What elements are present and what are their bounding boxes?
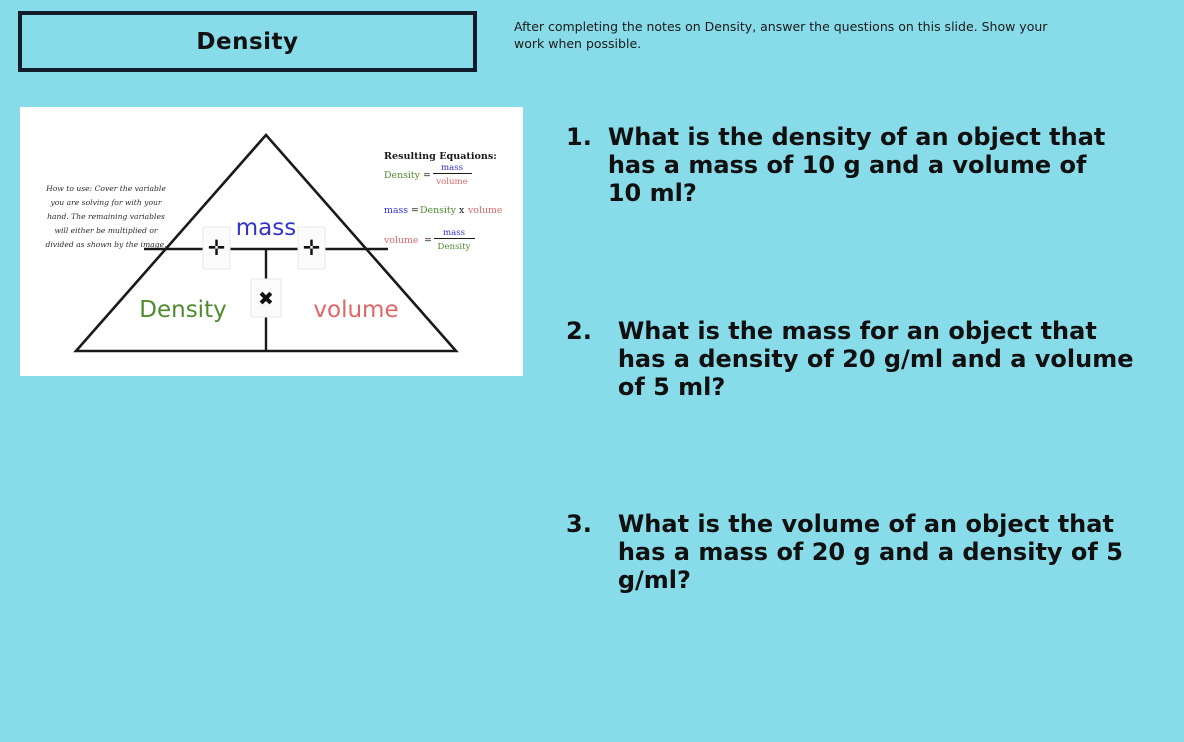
equations-heading: Resulting Equations:: [384, 151, 497, 162]
divide-icon: ✛: [208, 236, 226, 260]
equation-density-numerator: mass: [441, 163, 463, 173]
question-item: 1. What is the density of an object that…: [566, 123, 1126, 207]
equation-mass-factor1: Density: [420, 205, 457, 216]
question-text: What is the volume of an object that has…: [618, 510, 1126, 594]
instructions-text: After completing the notes on Density, a…: [514, 19, 1074, 53]
equation-density: Density = mass volume: [384, 163, 472, 187]
equation-density-denominator: volume: [435, 177, 468, 187]
question-number: 2.: [566, 317, 592, 401]
question-number: 3.: [566, 510, 592, 594]
equation-volume: volume = mass Density: [383, 228, 475, 252]
equation-volume-numerator: mass: [443, 228, 465, 238]
question-line-2: a mass of 10 g and a volume of 10 ml?: [608, 151, 1087, 207]
how-to-use-line-4: will either be multiplied or: [54, 226, 157, 235]
equation-volume-lhs: volume: [383, 235, 419, 246]
equation-mass-lhs: mass: [384, 205, 408, 216]
question-text: What is the mass for an object that has …: [618, 317, 1136, 401]
multiply-operator: ✖: [251, 279, 281, 317]
equation-mass: mass = Density x volume: [384, 205, 503, 216]
equation-mass-factor2: volume: [467, 205, 503, 216]
equation-density-equals: =: [423, 170, 431, 181]
equation-mass-times: x: [459, 205, 465, 216]
how-to-use-line-1: How to use: Cover the variable: [45, 184, 166, 193]
divide-operator-right: ✛: [298, 227, 325, 269]
question-line-2: density of 20 g/ml and a volume of 5 ml?: [618, 345, 1134, 401]
density-triangle-image: How to use: Cover the variable you are s…: [20, 107, 523, 376]
equation-density-lhs: Density: [384, 170, 421, 181]
how-to-use-line-3: hand. The remaining variables: [47, 212, 165, 221]
equation-volume-denominator: Density: [438, 242, 471, 252]
question-item: 3. What is the volume of an object that …: [566, 510, 1126, 594]
question-text: What is the density of an object that ha…: [608, 123, 1126, 207]
how-to-use-text: How to use: Cover the variable you are s…: [45, 184, 166, 249]
how-to-use-line-2: you are solving for with your: [49, 198, 161, 207]
slide-title-box: Density: [18, 11, 477, 72]
divide-icon: ✛: [303, 236, 321, 260]
triangle-label-volume: volume: [313, 297, 398, 323]
question-item: 2. What is the mass for an object that h…: [566, 317, 1136, 401]
triangle-label-density: Density: [139, 297, 226, 323]
how-to-use-line-5: divided as shown by the image.: [46, 240, 167, 249]
question-number: 1.: [566, 123, 592, 207]
equation-volume-equals: =: [424, 235, 432, 246]
divide-operator-left: ✛: [203, 227, 230, 269]
equation-mass-equals: =: [411, 205, 419, 216]
page-title: Density: [196, 29, 298, 55]
question-line-2: a mass of 20 g and a density of 5 g/ml?: [618, 538, 1123, 594]
multiply-icon: ✖: [258, 288, 274, 310]
triangle-label-mass: mass: [236, 215, 296, 241]
